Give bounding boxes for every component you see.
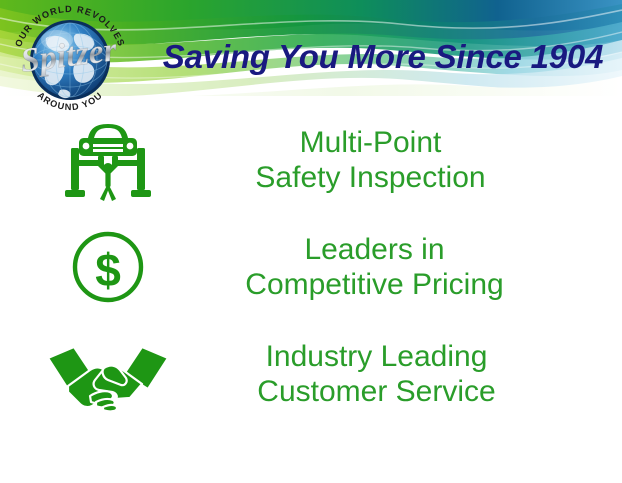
car-lift-icon (62, 118, 154, 202)
spitzer-logo: OUR WORLD REVOLVES AROUND YOU Spitzer (2, 2, 138, 116)
benefit-text: Multi-Point Safety Inspection (215, 125, 622, 195)
benefit-icon-cell: $ (0, 228, 215, 306)
benefit-line-2: Safety Inspection (215, 160, 526, 195)
benefit-line-1: Multi-Point (215, 125, 526, 160)
benefit-line-1: Leaders in (215, 232, 534, 267)
benefit-text: Leaders in Competitive Pricing (215, 232, 622, 302)
benefit-text: Industry Leading Customer Service (215, 339, 622, 409)
benefit-icon-cell (0, 334, 215, 414)
benefit-row: Industry Leading Customer Service (0, 322, 622, 426)
benefit-row: $ Leaders in Competitive Pricing (0, 215, 622, 319)
spitzer-logo-graphic: OUR WORLD REVOLVES AROUND YOU Spitzer (2, 2, 138, 116)
dollar-glyph: $ (95, 244, 121, 296)
benefit-line-2: Customer Service (215, 374, 538, 409)
handshake-icon (46, 334, 170, 414)
benefit-icon-cell (0, 118, 215, 202)
benefit-line-1: Industry Leading (215, 339, 538, 374)
promo-slide: OUR WORLD REVOLVES AROUND YOU Spitzer Sa… (0, 0, 622, 483)
benefit-line-2: Competitive Pricing (215, 267, 534, 302)
page-title: Saving You More Since 1904 (150, 38, 616, 76)
dollar-circle-icon: $ (69, 228, 147, 306)
benefit-row: Multi-Point Safety Inspection (0, 108, 622, 212)
